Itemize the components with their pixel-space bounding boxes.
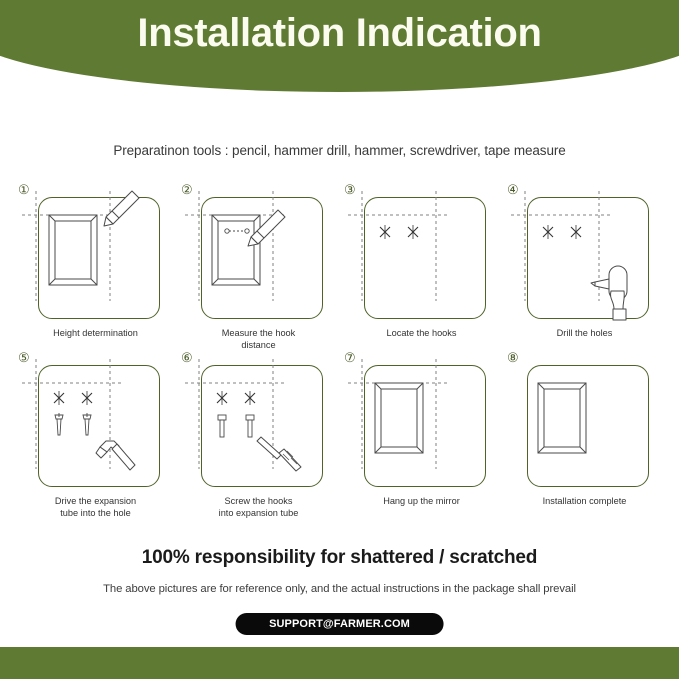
step-8-caption: Installation complete <box>503 495 666 507</box>
step-2-caption-line2: distance <box>177 339 340 351</box>
step-number-8: ⑧ <box>507 351 519 365</box>
step-5-caption-line2: tube into the hole <box>14 507 177 519</box>
step-7: ⑦ Hang up the mirror <box>340 351 503 523</box>
step-5-caption-line1: Drive the expansion <box>14 495 177 507</box>
step-6: ⑥ <box>177 351 340 523</box>
step-6-panel <box>201 365 323 487</box>
steps-grid: ① Height determination <box>14 183 669 523</box>
step-4: ④ Drill the holes <box>503 183 666 351</box>
step-5-panel <box>38 365 160 487</box>
footer-green-bar <box>0 647 679 679</box>
step-1: ① Height determination <box>14 183 177 351</box>
step-7-panel <box>364 365 486 487</box>
step-6-caption-line2: into expansion tube <box>177 507 340 519</box>
step-2: ② <box>177 183 340 351</box>
preparation-tools-text: Preparatinon tools : pencil, hammer dril… <box>0 143 679 158</box>
step-1-panel <box>38 197 160 319</box>
step-7-caption: Hang up the mirror <box>340 495 503 507</box>
page-title: Installation Indication <box>0 10 679 56</box>
step-3-panel <box>364 197 486 319</box>
guarantee-text: 100% responsibility for shattered / scra… <box>0 547 679 569</box>
step-number-7: ⑦ <box>344 351 356 365</box>
step-number-6: ⑥ <box>181 351 193 365</box>
step-2-caption-line1: Measure the hook <box>177 327 340 339</box>
step-3: ③ Locate the hooks <box>340 183 503 351</box>
step-6-caption-line1: Screw the hooks <box>177 495 340 507</box>
header-banner: Installation Indication <box>0 0 679 92</box>
step-5: ⑤ <box>14 351 177 523</box>
support-email-badge[interactable]: SUPPORT@FARMER.COM <box>235 613 444 635</box>
step-number-2: ② <box>181 183 193 197</box>
step-4-panel <box>527 197 649 319</box>
step-number-1: ① <box>18 183 30 197</box>
step-8: ⑧ Installation complete <box>503 351 666 523</box>
step-5-caption: Drive the expansion tube into the hole <box>14 495 177 519</box>
step-number-5: ⑤ <box>18 351 30 365</box>
step-number-3: ③ <box>344 183 356 197</box>
step-1-caption: Height determination <box>14 327 177 339</box>
disclaimer-text: The above pictures are for reference onl… <box>0 583 679 595</box>
step-number-4: ④ <box>507 183 519 197</box>
step-8-panel <box>527 365 649 487</box>
step-4-caption: Drill the holes <box>503 327 666 339</box>
step-2-panel <box>201 197 323 319</box>
step-3-caption: Locate the hooks <box>340 327 503 339</box>
step-6-caption: Screw the hooks into expansion tube <box>177 495 340 519</box>
step-2-caption: Measure the hook distance <box>177 327 340 351</box>
